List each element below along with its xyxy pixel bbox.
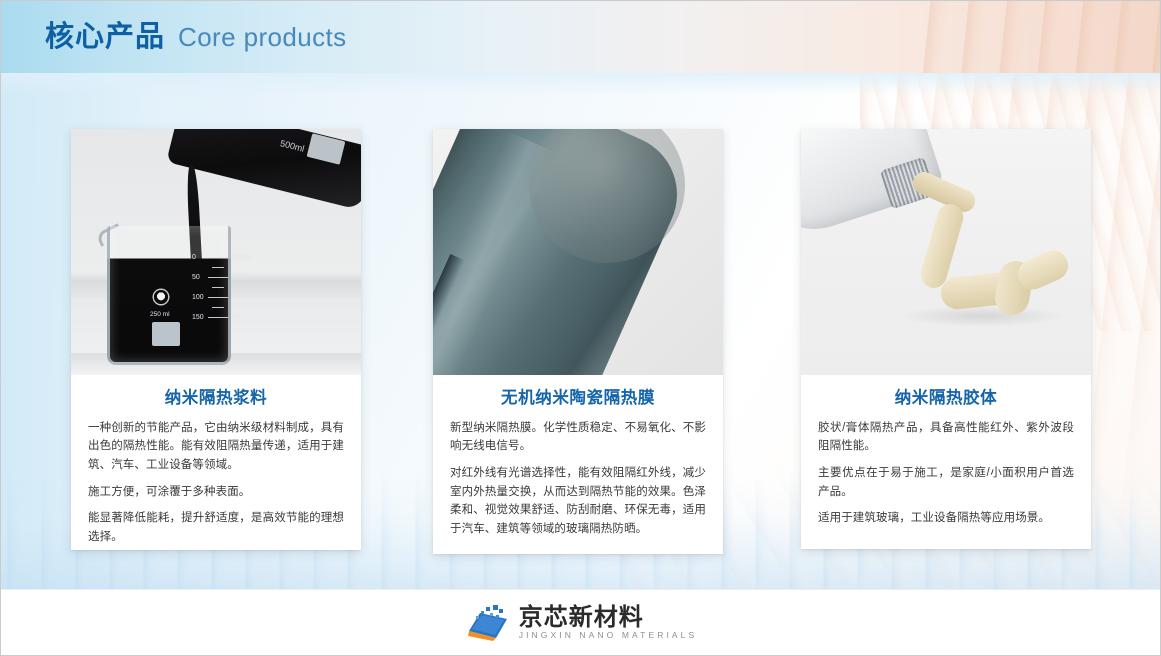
photo-grad-left-0: 0 [192,254,196,261]
product-title-inorganic-nano-ceramic-film: 无机纳米陶瓷隔热膜 [450,389,706,409]
product-title-nano-thermal-slurry: 纳米隔热浆料 [88,389,344,409]
product-paragraph: 施工方便，可涂覆于多种表面。 [88,483,344,502]
product-photo-inorganic-nano-ceramic-film [433,129,723,375]
photo-grad-left-100: 100 [192,294,204,301]
product-paragraph: 适用于建筑玻璃，工业设备隔热等应用场景。 [818,509,1074,528]
product-paragraph: 新型纳米隔热膜。化学性质稳定、不易氧化、不影响无线电信号。 [450,419,706,456]
photo-grad-right-100: 100 [232,294,244,301]
photo-grad-left-50: 50 [192,274,200,281]
product-paragraph: 能显著降低能耗，提升舒适度，是高效节能的理想选择。 [88,509,344,546]
product-paragraph: 主要优点在于易于施工，是家庭/小面积用户首选产品。 [818,464,1074,501]
product-card-inorganic-nano-ceramic-film[interactable]: 无机纳米陶瓷隔热膜 新型纳米隔热膜。化学性质稳定、不易氧化、不影响无线电信号。 … [433,129,723,554]
photo-beaker: 250 ml 0 50 100 150 200ml 150 100 [107,226,231,365]
header-columns-watermark [922,1,1161,73]
product-card-row: 500ml 250 ml 0 50 100 150 [1,129,1161,559]
slide-header-band: 核心产品 Core products [1,1,1161,73]
photo-art-tube-paste [801,129,1091,375]
company-logo[interactable]: 京芯新材料 JINGXIN NANO MATERIALS [466,605,698,641]
photo-beaker-capacity-text: 250 ml [150,311,170,318]
product-card-body: 纳米隔热浆料 一种创新的节能产品，它由纳米级材料制成，具有出色的隔热性能。能有效… [71,375,361,550]
slide-footer: 京芯新材料 JINGXIN NANO MATERIALS [1,589,1161,655]
logo-company-name-chinese: 京芯新材料 [519,606,698,630]
photo-paste-shadow [897,305,1067,327]
logo-company-name-english: JINGXIN NANO MATERIALS [519,631,698,640]
header-title-group: 核心产品 Core products [45,1,347,73]
photo-art-beaker-scene: 500ml 250 ml 0 50 100 150 [71,129,361,375]
header-underglow [1,73,1161,95]
product-photo-nano-thermal-colloid [801,129,1091,375]
photo-beaker-brand-mark [154,290,168,304]
product-paragraph: 胶状/膏体隔热产品，具备高性能红外、紫外波段阻隔性能。 [818,419,1074,456]
photo-art-film-roll [433,129,723,375]
page-title-english: Core products [178,24,347,50]
product-photo-nano-thermal-slurry: 500ml 250 ml 0 50 100 150 [71,129,361,375]
product-title-nano-thermal-colloid: 纳米隔热胶体 [818,389,1074,409]
product-card-nano-thermal-slurry[interactable]: 500ml 250 ml 0 50 100 150 [71,129,361,550]
photo-beaker-graduations: 0 50 100 150 200ml 150 100 50 [192,252,254,336]
photo-grad-right-150: 150 [232,274,244,281]
photo-grad-left-150: 150 [192,314,204,321]
slide-core-products: 核心产品 Core products 500ml 250 ml [0,0,1161,656]
product-card-nano-thermal-colloid[interactable]: 纳米隔热胶体 胶状/膏体隔热产品，具备高性能红外、紫外波段阻隔性能。 主要优点在… [801,129,1091,549]
product-paragraph: 一种创新的节能产品，它由纳米级材料制成，具有出色的隔热性能。能有效阻隔热量传递，… [88,419,344,475]
photo-grad-right-200: 200ml [232,254,251,261]
photo-grad-right-50: 50 [232,314,240,321]
photo-beaker-write-patch [152,322,180,346]
page-title-chinese: 核心产品 [45,23,165,52]
product-paragraph: 对红外线有光谱选择性，能有效阻隔红外线，减少室内外热量交换，从而达到隔热节能的效… [450,464,706,539]
logo-mark-icon [466,605,510,641]
product-card-body: 纳米隔热胶体 胶状/膏体隔热产品，具备高性能红外、紫外波段阻隔性能。 主要优点在… [801,375,1091,549]
product-card-body: 无机纳米陶瓷隔热膜 新型纳米隔热膜。化学性质稳定、不易氧化、不影响无线电信号。 … [433,375,723,554]
logo-wordmark: 京芯新材料 JINGXIN NANO MATERIALS [519,606,698,640]
